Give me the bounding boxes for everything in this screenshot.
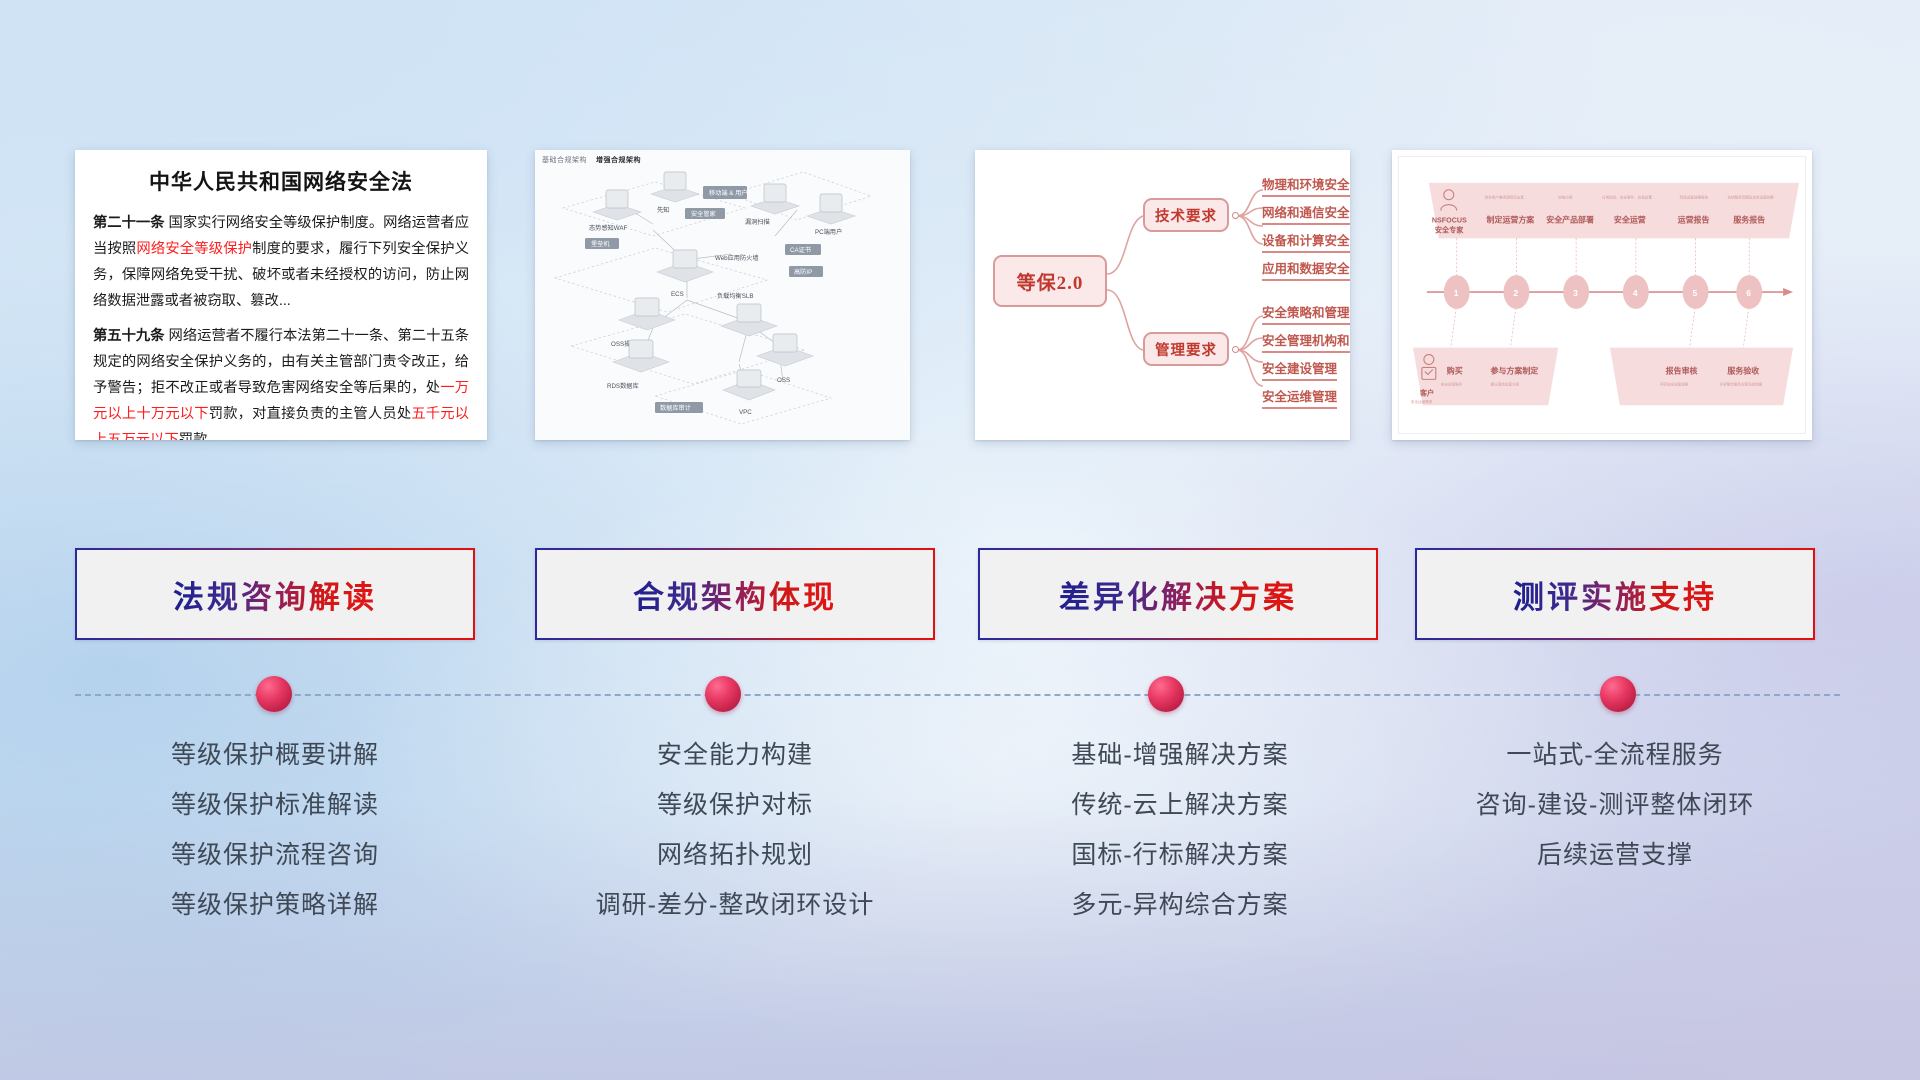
svg-text:制定运营方案: 制定运营方案	[1487, 215, 1536, 225]
svg-text:安全运营服务: 安全运营服务	[1441, 381, 1463, 386]
mindmap-root: 等保2.0	[993, 255, 1107, 307]
mindmap-leaf-mgmt-3: 安全建设管理	[1262, 358, 1337, 381]
list-item: 等级保护策略详解	[75, 880, 475, 930]
list-item: 一站式-全流程服务	[1395, 730, 1835, 780]
roadmap-frame: 1 2 3 4 5 6 NSFOCUS 安全专	[1398, 156, 1806, 434]
svg-text:实施方案: 实施方案	[1558, 195, 1573, 200]
mindmap-leaf-mgmt-2: 安全管理机构和人员	[1262, 330, 1350, 353]
list-item: 后续运营支撑	[1395, 830, 1835, 880]
card-compliance-architecture: 基础合规架构增强合规架构	[535, 150, 910, 440]
svg-text:阶段运营效果报告: 阶段运营效果报告	[1680, 195, 1709, 200]
svg-text:PC端用户: PC端用户	[815, 228, 842, 236]
svg-text:先知: 先知	[657, 206, 669, 214]
heading-box-compliance-architecture[interactable]: 合规架构体现	[535, 548, 935, 640]
svg-text:RDS数据库: RDS数据库	[607, 382, 639, 390]
svg-text:高防IP: 高防IP	[794, 268, 812, 276]
svg-text:运营报告: 运营报告	[1678, 215, 1710, 225]
svg-text:ECS: ECS	[671, 291, 684, 298]
law-article-21-highlight: 网络安全等级保护	[136, 241, 252, 257]
svg-text:购买: 购买	[1447, 365, 1463, 375]
svg-text:1: 1	[1454, 288, 1459, 298]
law-document: 中华人民共和国网络安全法 第二十一条 国家实行网络安全等级保护制度。网络运营者应…	[75, 150, 487, 440]
list-item: 安全能力构建	[520, 730, 950, 780]
svg-text:安全运营需求: 安全运营需求	[1411, 399, 1433, 404]
list-item: 基础-增强解决方案	[975, 730, 1385, 780]
roadmap-svg: 1 2 3 4 5 6 NSFOCUS 安全专	[1399, 157, 1805, 433]
svg-text:服务报告: 服务报告	[1733, 215, 1765, 225]
svg-text:安全运营: 安全运营	[1614, 215, 1646, 225]
detail-list-row: 等级保护概要讲解 等级保护标准解读 等级保护流程咨询 等级保护策略详解 安全能力…	[0, 730, 1920, 980]
svg-text:安全产品部署: 安全产品部署	[1546, 215, 1594, 225]
svg-text:安全专家: 安全专家	[1435, 225, 1464, 234]
svg-text:确认落地运营方案: 确认落地运营方案	[1491, 381, 1520, 386]
svg-text:5: 5	[1693, 288, 1698, 298]
mindmap-collapse-icon-technical[interactable]	[1232, 212, 1239, 219]
heading-label-1: 法规咨询解读	[173, 572, 377, 617]
timeline-dot-1[interactable]	[256, 676, 292, 712]
svg-text:CA证书: CA证书	[790, 246, 811, 254]
heading-row: 法规咨询解读 合规架构体现 差异化解决方案 测评实施支持	[0, 548, 1920, 640]
svg-text:服务验收: 服务验收	[1727, 365, 1759, 375]
timeline-dot-2[interactable]	[705, 676, 741, 712]
architecture-chip-label: 移动端 & 用户	[709, 189, 748, 197]
timeline-dashed-line	[75, 694, 1840, 696]
law-article-59: 第五十九条 网络运营者不履行本法第二十一条、第二十五条规定的网络安全保护义务的，…	[93, 323, 469, 440]
svg-text:漏洞扫描: 漏洞扫描	[745, 218, 770, 226]
mindmap: 等保2.0 技术要求 管理要求 物理和环境安全 网络和通信安全 设备和计算安全 …	[975, 150, 1350, 440]
list-item: 咨询-建设-测评整体闭环	[1395, 780, 1835, 830]
svg-text:总结服务范围及总体运营效果: 总结服务范围及总体运营效果	[1727, 195, 1774, 200]
list-item: 传统-云上解决方案	[975, 780, 1385, 830]
heading-label-4: 测评实施支持	[1513, 572, 1717, 617]
list-item: 等级保护对标	[520, 780, 950, 830]
svg-text:客户: 客户	[1419, 388, 1434, 397]
svg-text:结合客户需求调研后出具: 结合客户需求调研后出具	[1485, 195, 1525, 200]
svg-text:OSS: OSS	[777, 377, 790, 384]
timeline-dot-3[interactable]	[1148, 676, 1184, 712]
roadmap: 1 2 3 4 5 6 NSFOCUS 安全专	[1392, 150, 1812, 440]
mindmap-collapse-icon-management[interactable]	[1232, 346, 1239, 353]
mindmap-leaf-tech-4: 应用和数据安全	[1262, 258, 1350, 281]
detail-list-compliance-architecture: 安全能力构建 等级保护对标 网络拓扑规划 调研-差分-整改闭环设计	[520, 730, 950, 930]
svg-text:参与方案制定: 参与方案制定	[1490, 365, 1539, 375]
architecture-svg: 移动端 & 用户 态势感知WAF 先知	[535, 150, 910, 440]
list-item: 国标-行标解决方案	[975, 830, 1385, 880]
law-article-59-label: 第五十九条	[93, 328, 165, 344]
svg-text:Web应用防火墙: Web应用防火墙	[715, 254, 759, 262]
svg-text:6: 6	[1746, 288, 1751, 298]
list-item: 等级保护概要讲解	[75, 730, 475, 780]
timeline	[0, 650, 1920, 730]
svg-text:态势感知WAF: 态势感知WAF	[589, 224, 627, 232]
list-item: 网络拓扑规划	[520, 830, 950, 880]
svg-text:数据库审计: 数据库审计	[660, 404, 691, 412]
mindmap-leaf-mgmt-1: 安全策略和管理制度	[1262, 302, 1350, 325]
list-item: 等级保护标准解读	[75, 780, 475, 830]
mindmap-branch-management: 管理要求	[1143, 332, 1229, 366]
architecture-diagram: 基础合规架构增强合规架构	[535, 150, 910, 440]
timeline-dot-4[interactable]	[1600, 676, 1636, 712]
heading-box-assessment-support[interactable]: 测评实施支持	[1415, 548, 1815, 640]
law-article-59-text-c: 罚款。	[179, 432, 222, 440]
heading-box-regulation-consulting[interactable]: 法规咨询解读	[75, 548, 475, 640]
heading-label-3: 差异化解决方案	[1059, 572, 1297, 617]
preview-card-row: 中华人民共和国网络安全法 第二十一条 国家实行网络安全等级保护制度。网络运营者应…	[0, 150, 1920, 445]
heading-box-differentiated-solution[interactable]: 差异化解决方案	[978, 548, 1378, 640]
law-article-21-label: 第二十一条	[93, 215, 165, 231]
mindmap-leaf-mgmt-4: 安全运维管理	[1262, 386, 1337, 409]
svg-text:日常巡检、安全事件、应急处置: 日常巡检、安全事件、应急处置	[1602, 195, 1652, 200]
svg-text:报告审核: 报告审核	[1666, 365, 1698, 375]
mindmap-leaf-tech-1: 物理和环境安全	[1262, 174, 1350, 197]
mindmap-leaf-tech-3: 设备和计算安全	[1262, 230, 1350, 253]
list-item: 调研-差分-整改闭环设计	[520, 880, 950, 930]
card-service-roadmap: 1 2 3 4 5 6 NSFOCUS 安全专	[1392, 150, 1812, 440]
card-cybersecurity-law: 中华人民共和国网络安全法 第二十一条 国家实行网络安全等级保护制度。网络运营者应…	[75, 150, 487, 440]
card-dengbao-mindmap: 等保2.0 技术要求 管理要求 物理和环境安全 网络和通信安全 设备和计算安全 …	[975, 150, 1350, 440]
svg-text:VPC: VPC	[739, 409, 752, 416]
svg-text:负载均衡SLB: 负载均衡SLB	[717, 292, 753, 300]
svg-text:3: 3	[1573, 288, 1578, 298]
svg-text:评审安全运营效果: 评审安全运营效果	[1660, 381, 1689, 386]
mindmap-leaf-tech-2: 网络和通信安全	[1262, 202, 1350, 225]
law-title: 中华人民共和国网络安全法	[93, 166, 469, 196]
svg-text:安全管家: 安全管家	[691, 210, 716, 218]
detail-list-regulation-consulting: 等级保护概要讲解 等级保护标准解读 等级保护流程咨询 等级保护策略详解	[75, 730, 475, 930]
law-article-21: 第二十一条 国家实行网络安全等级保护制度。网络运营者应当按照网络安全等级保护制度…	[93, 210, 469, 314]
list-item: 多元-异构综合方案	[975, 880, 1385, 930]
law-article-59-text-b: 罚款，对直接负责的主管人员处	[209, 406, 412, 422]
mindmap-branch-technical: 技术要求	[1143, 198, 1229, 232]
svg-text:4: 4	[1633, 288, 1638, 298]
svg-text:NSFOCUS: NSFOCUS	[1432, 217, 1467, 225]
heading-label-2: 合规架构体现	[633, 572, 837, 617]
svg-text:2: 2	[1513, 288, 1518, 298]
detail-list-assessment-support: 一站式-全流程服务 咨询-建设-测评整体闭环 后续运营支撑	[1395, 730, 1835, 880]
detail-list-differentiated-solution: 基础-增强解决方案 传统-云上解决方案 国标-行标解决方案 多元-异构综合方案	[975, 730, 1385, 930]
svg-text:堡垒机: 堡垒机	[591, 240, 610, 248]
list-item: 等级保护流程咨询	[75, 830, 475, 880]
slide-stage: 中华人民共和国网络安全法 第二十一条 国家实行网络安全等级保护制度。网络运营者应…	[0, 0, 1920, 1080]
svg-text:评审整年服务方案完成效果: 评审整年服务方案完成效果	[1719, 381, 1762, 386]
